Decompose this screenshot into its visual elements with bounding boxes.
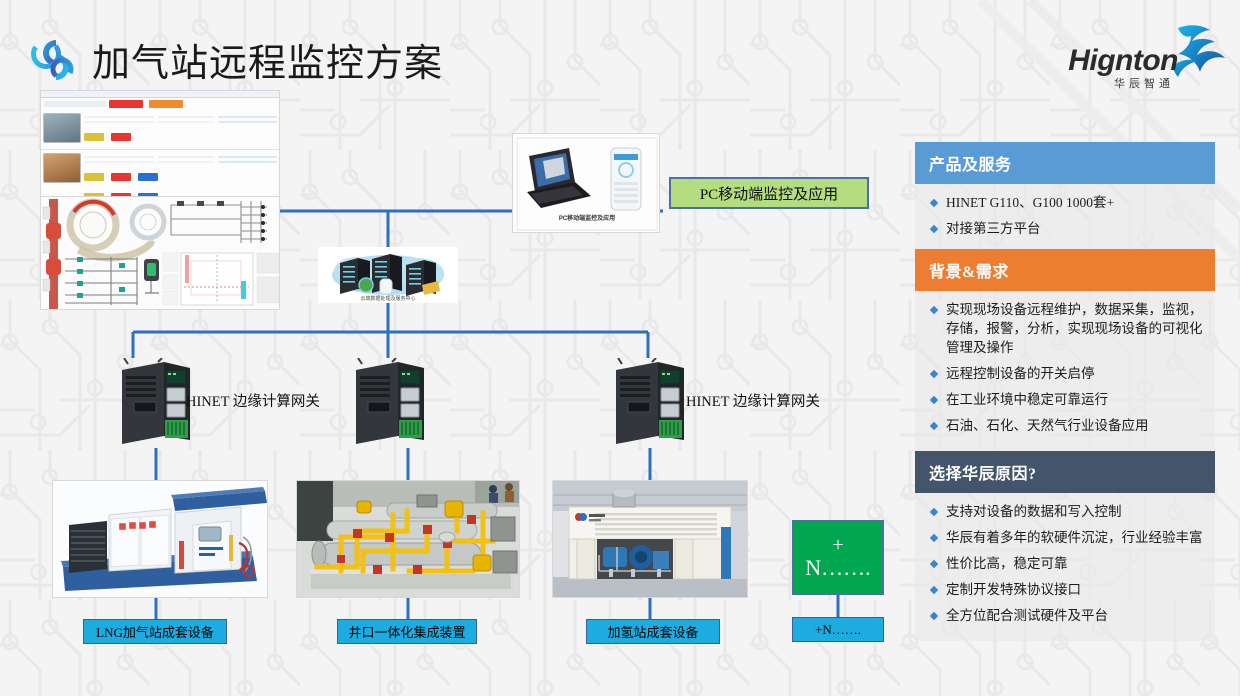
- gateway-device-right[interactable]: [612, 358, 688, 448]
- list-item: 石油、石化、天然气行业设备应用: [925, 416, 1205, 435]
- callout-pc-label: PC移动端监控及应用: [700, 183, 838, 204]
- more-equipment-box[interactable]: + N…….: [792, 520, 884, 595]
- terminal-caption: PC移动端监控及应用: [559, 214, 615, 222]
- list-item: 支持对设备的数据和写入控制: [925, 502, 1205, 521]
- gateway-label-left: HINET 边缘计算网关: [186, 390, 320, 411]
- equipment-label-lng[interactable]: LNG加气站成套设备: [83, 619, 227, 644]
- monitoring-platform-screenshot[interactable]: [40, 90, 280, 202]
- info-block-why-us-title: 选择华辰原因?: [915, 451, 1215, 493]
- hinet-gateway-icon: [352, 358, 428, 448]
- scada-process-diagram[interactable]: [40, 196, 280, 310]
- diamond-bullet-icon: [930, 225, 938, 233]
- list-item: 性价比高，稳定可靠: [925, 554, 1205, 573]
- equipment-photo-lng[interactable]: [52, 480, 268, 598]
- list-item: 全方位配合测试硬件及平台: [925, 606, 1205, 625]
- list-item: 实现现场设备远程维护，数据采集，监视，存储，报警，分析，实现现场设备的可视化管理…: [925, 300, 1205, 357]
- equipment-label-hydrogen[interactable]: 加氢站成套设备: [586, 619, 720, 644]
- dashboard-device-row[interactable]: [41, 110, 279, 150]
- cloud-datacenter-image[interactable]: 云端数据处理及服务中心: [318, 247, 458, 303]
- info-block-why-us: 选择华辰原因? 支持对设备的数据和写入控制 华辰有着多年的软硬件沉淀，行业经验丰…: [915, 451, 1215, 641]
- more-plus-label: +: [832, 537, 843, 553]
- info-block-products: 产品及服务 HINET G110、G100 1000套+ 对接第三方平台: [915, 142, 1215, 249]
- list-item: HINET G110、G100 1000套+: [925, 193, 1205, 212]
- diamond-bullet-icon: [930, 586, 938, 594]
- list-item: 定制开发特殊协议接口: [925, 580, 1205, 599]
- list-item: 对接第三方平台: [925, 219, 1205, 238]
- info-block-background: 背景&需求 实现现场设备远程维护，数据采集，监视，存储，报警，分析，实现现场设备…: [915, 249, 1215, 451]
- list-item: 在工业环境中稳定可靠运行: [925, 390, 1205, 409]
- page-title: 加气站远程监控方案: [92, 32, 443, 87]
- equipment-label-hydrogen-text: 加氢站成套设备: [607, 622, 698, 641]
- logo-wordmark: Hignton: [1068, 44, 1178, 78]
- page-header: 加气站远程监控方案 Hignton 华辰智通: [0, 0, 1240, 96]
- diamond-bullet-icon: [930, 422, 938, 430]
- gateway-label-right: HINET 边缘计算网关: [686, 390, 820, 411]
- hinet-gateway-icon: [612, 358, 688, 448]
- info-block-background-title: 背景&需求: [915, 249, 1215, 291]
- equipment-label-more-text: +N…….: [815, 622, 861, 638]
- cloud-server-graphic: 云端数据处理及服务中心: [318, 247, 458, 303]
- device-thumbnail: [43, 113, 81, 143]
- cloud-caption: 云端数据处理及服务中心: [360, 295, 415, 302]
- scada-graphic: [41, 197, 280, 310]
- pc-mobile-terminal-image[interactable]: PC移动端监控及应用: [512, 133, 660, 233]
- equipment-label-wellhead[interactable]: 井口一体化集成装置: [337, 619, 477, 644]
- device-thumbnail: [43, 153, 81, 183]
- wellhead-skid-graphic: [297, 481, 520, 598]
- diamond-bullet-icon: [930, 612, 938, 620]
- info-sidebar: 产品及服务 HINET G110、G100 1000套+ 对接第三方平台 背景&…: [915, 142, 1215, 641]
- list-item: 远程控制设备的开关启停: [925, 364, 1205, 383]
- equipment-photo-wellhead[interactable]: [296, 480, 520, 598]
- logo-chinese-name: 华辰智通: [1114, 75, 1174, 91]
- callout-pc-mobile[interactable]: PC移动端监控及应用: [669, 177, 869, 209]
- hydrogen-station-container-graphic: [553, 481, 748, 598]
- diamond-bullet-icon: [930, 508, 938, 516]
- diamond-bullet-icon: [930, 396, 938, 404]
- gateway-device-center[interactable]: [352, 358, 428, 448]
- equipment-label-lng-text: LNG加气站成套设备: [96, 622, 214, 641]
- info-block-products-body: HINET G110、G100 1000套+ 对接第三方平台: [915, 184, 1215, 249]
- info-block-background-body: 实现现场设备远程维护，数据采集，监视，存储，报警，分析，实现现场设备的可视化管理…: [915, 291, 1215, 451]
- more-n-label: N…….: [805, 557, 870, 579]
- hinet-gateway-icon: [118, 358, 194, 448]
- diamond-bullet-icon: [930, 534, 938, 542]
- lng-station-skid-graphic: [53, 481, 268, 598]
- diamond-bullet-icon: [930, 306, 938, 314]
- equipment-label-more[interactable]: +N…….: [792, 617, 884, 642]
- diamond-bullet-icon: [930, 370, 938, 378]
- equipment-label-wellhead-text: 井口一体化集成装置: [348, 622, 465, 641]
- laptop-phone-graphic: PC移动端监控及应用: [513, 134, 660, 233]
- info-block-products-title: 产品及服务: [915, 142, 1215, 184]
- gateway-device-left[interactable]: [118, 358, 194, 448]
- dashboard-device-row[interactable]: [41, 150, 279, 202]
- diamond-bullet-icon: [930, 560, 938, 568]
- interlocking-circles-logo-icon: [26, 32, 82, 88]
- info-block-why-us-body: 支持对设备的数据和写入控制 华辰有着多年的软硬件沉淀，行业经验丰富 性价比高，稳…: [915, 493, 1215, 641]
- list-item: 华辰有着多年的软硬件沉淀，行业经验丰富: [925, 528, 1205, 547]
- equipment-photo-hydrogen[interactable]: [552, 480, 748, 598]
- diamond-bullet-icon: [930, 199, 938, 207]
